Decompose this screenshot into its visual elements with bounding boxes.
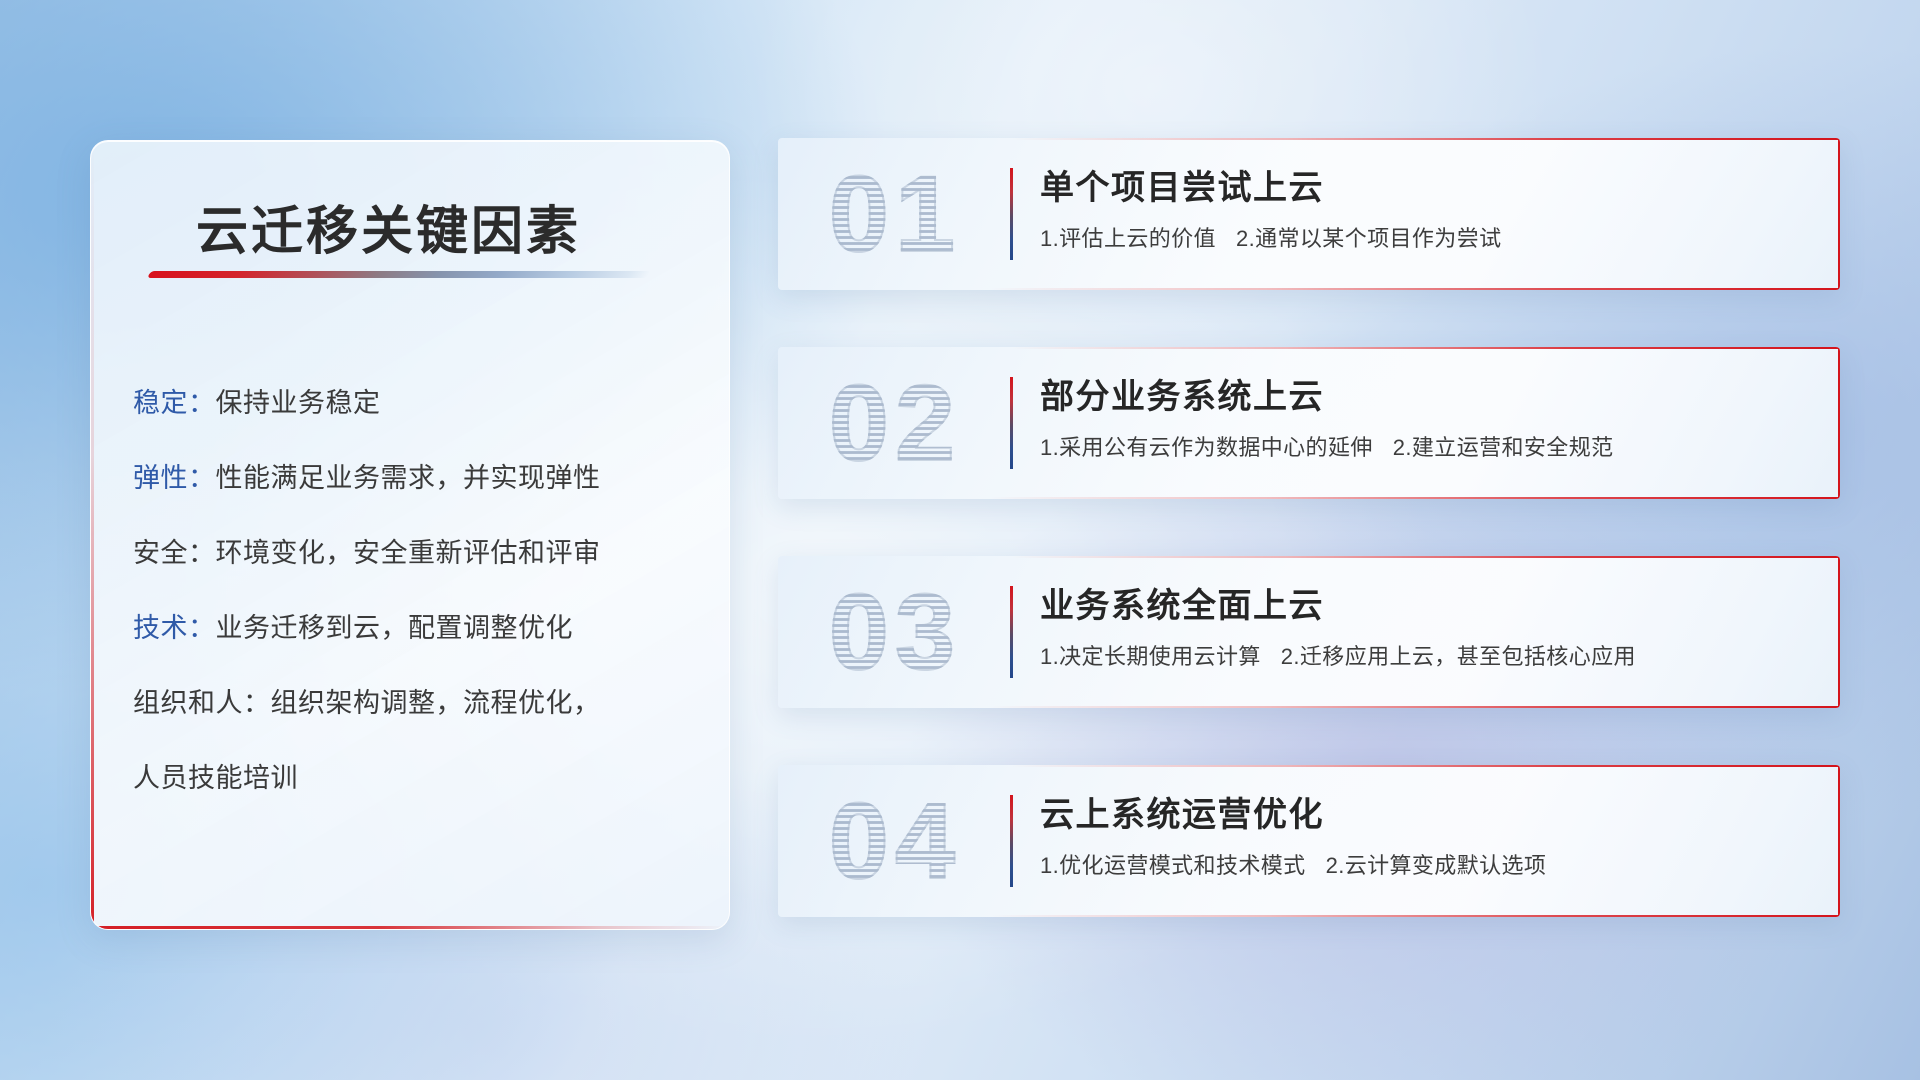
list-item-value: 人员技能培训 (133, 763, 298, 793)
card-top-accent-line (778, 138, 1840, 140)
card-body: 部分业务系统上云 1.采用公有云作为数据中心的延伸2.建立运营和安全规范 (1040, 373, 1814, 463)
card-bottom-accent-line (778, 497, 1840, 499)
list-item-key: 技术： (133, 613, 216, 643)
card-right-accent-line (1838, 138, 1840, 290)
card-number-text: 02 (829, 362, 961, 483)
card-top-accent-line (778, 347, 1840, 349)
card-title: 云上系统运营优化 (1040, 791, 1814, 839)
card-number-text: 04 (829, 780, 961, 901)
list-item-value: 环境变化，安全重新评估和评审 (216, 538, 601, 568)
card-divider-bar (1010, 586, 1013, 678)
card-divider-bar (1010, 795, 1013, 887)
card-bottom-accent-line (778, 288, 1840, 290)
card-right-accent-line (1838, 556, 1840, 708)
list-item-key: 安全： (133, 538, 216, 568)
card-description-part-2: 2.迁移应用上云，甚至包括核心应用 (1281, 644, 1636, 669)
list-item-value: 业务迁移到云，配置调整优化 (216, 613, 574, 643)
list-item-continuation: 人员技能培训 (133, 741, 699, 816)
card-number-text: 01 (829, 153, 961, 274)
card-body: 单个项目尝试上云 1.评估上云的价值2.通常以某个项目作为尝试 (1040, 164, 1814, 254)
list-item-key: 稳定： (133, 388, 216, 418)
card-body: 业务系统全面上云 1.决定长期使用云计算2.迁移应用上云，甚至包括核心应用 (1040, 582, 1814, 672)
list-item-value: 保持业务稳定 (216, 388, 381, 418)
panel-title: 云迁移关键因素 (196, 189, 581, 264)
card-divider-bar (1010, 377, 1013, 469)
list-item-key: 组织和人： (133, 688, 271, 718)
card-right-accent-line (1838, 347, 1840, 499)
card-number-watermark: 03 (800, 570, 990, 694)
card-title: 单个项目尝试上云 (1040, 164, 1814, 212)
card-number-watermark: 02 (800, 361, 990, 485)
card-description-part-1: 1.优化运营模式和技术模式 (1040, 853, 1306, 878)
card-description-part-1: 1.决定长期使用云计算 (1040, 644, 1261, 669)
card-description-part-2: 2.建立运营和安全规范 (1393, 435, 1614, 460)
card-number-text: 03 (829, 571, 961, 692)
card-description-part-2: 2.云计算变成默认选项 (1326, 853, 1547, 878)
card-description-part-2: 2.通常以某个项目作为尝试 (1236, 226, 1502, 251)
card-title: 业务系统全面上云 (1040, 582, 1814, 630)
stage-cards: 01 单个项目尝试上云 1.评估上云的价值2.通常以某个项目作为尝试 02 部分… (778, 138, 1840, 974)
list-item-key: 弹性： (133, 463, 216, 493)
card-divider-bar (1010, 168, 1013, 260)
card-description: 1.评估上云的价值2.通常以某个项目作为尝试 (1040, 224, 1814, 254)
key-factors-panel: 云迁移关键因素 稳定：保持业务稳定 弹性：性能满足业务需求，并实现弹性 安全：环… (90, 140, 730, 930)
list-item: 组织和人：组织架构调整，流程优化， (133, 666, 699, 741)
card-right-accent-line (1838, 765, 1840, 917)
card-title: 部分业务系统上云 (1040, 373, 1814, 421)
card-description: 1.决定长期使用云计算2.迁移应用上云，甚至包括核心应用 (1040, 642, 1814, 672)
card-number-watermark: 01 (800, 152, 990, 276)
list-item-value: 性能满足业务需求，并实现弹性 (216, 463, 601, 493)
card-description: 1.采用公有云作为数据中心的延伸2.建立运营和安全规范 (1040, 433, 1814, 463)
stage-card-04[interactable]: 04 云上系统运营优化 1.优化运营模式和技术模式2.云计算变成默认选项 (778, 765, 1840, 917)
key-factors-list: 稳定：保持业务稳定 弹性：性能满足业务需求，并实现弹性 安全：环境变化，安全重新… (133, 366, 699, 816)
list-item: 稳定：保持业务稳定 (133, 366, 699, 441)
list-item: 弹性：性能满足业务需求，并实现弹性 (133, 441, 699, 516)
card-bottom-accent-line (778, 706, 1840, 708)
card-body: 云上系统运营优化 1.优化运营模式和技术模式2.云计算变成默认选项 (1040, 791, 1814, 881)
slide-stage: 云迁移关键因素 稳定：保持业务稳定 弹性：性能满足业务需求，并实现弹性 安全：环… (0, 0, 1920, 1080)
list-item: 安全：环境变化，安全重新评估和评审 (133, 516, 699, 591)
stage-card-02[interactable]: 02 部分业务系统上云 1.采用公有云作为数据中心的延伸2.建立运营和安全规范 (778, 347, 1840, 499)
card-number-watermark: 04 (800, 779, 990, 903)
stage-card-01[interactable]: 01 单个项目尝试上云 1.评估上云的价值2.通常以某个项目作为尝试 (778, 138, 1840, 290)
title-underline-gradient (147, 271, 651, 278)
card-description: 1.优化运营模式和技术模式2.云计算变成默认选项 (1040, 851, 1814, 881)
card-description-part-1: 1.采用公有云作为数据中心的延伸 (1040, 435, 1373, 460)
card-top-accent-line (778, 765, 1840, 767)
card-bottom-accent-line (778, 915, 1840, 917)
stage-card-03[interactable]: 03 业务系统全面上云 1.决定长期使用云计算2.迁移应用上云，甚至包括核心应用 (778, 556, 1840, 708)
card-description-part-1: 1.评估上云的价值 (1040, 226, 1216, 251)
list-item-value: 组织架构调整，流程优化， (271, 688, 601, 718)
card-top-accent-line (778, 556, 1840, 558)
list-item: 技术：业务迁移到云，配置调整优化 (133, 591, 699, 666)
